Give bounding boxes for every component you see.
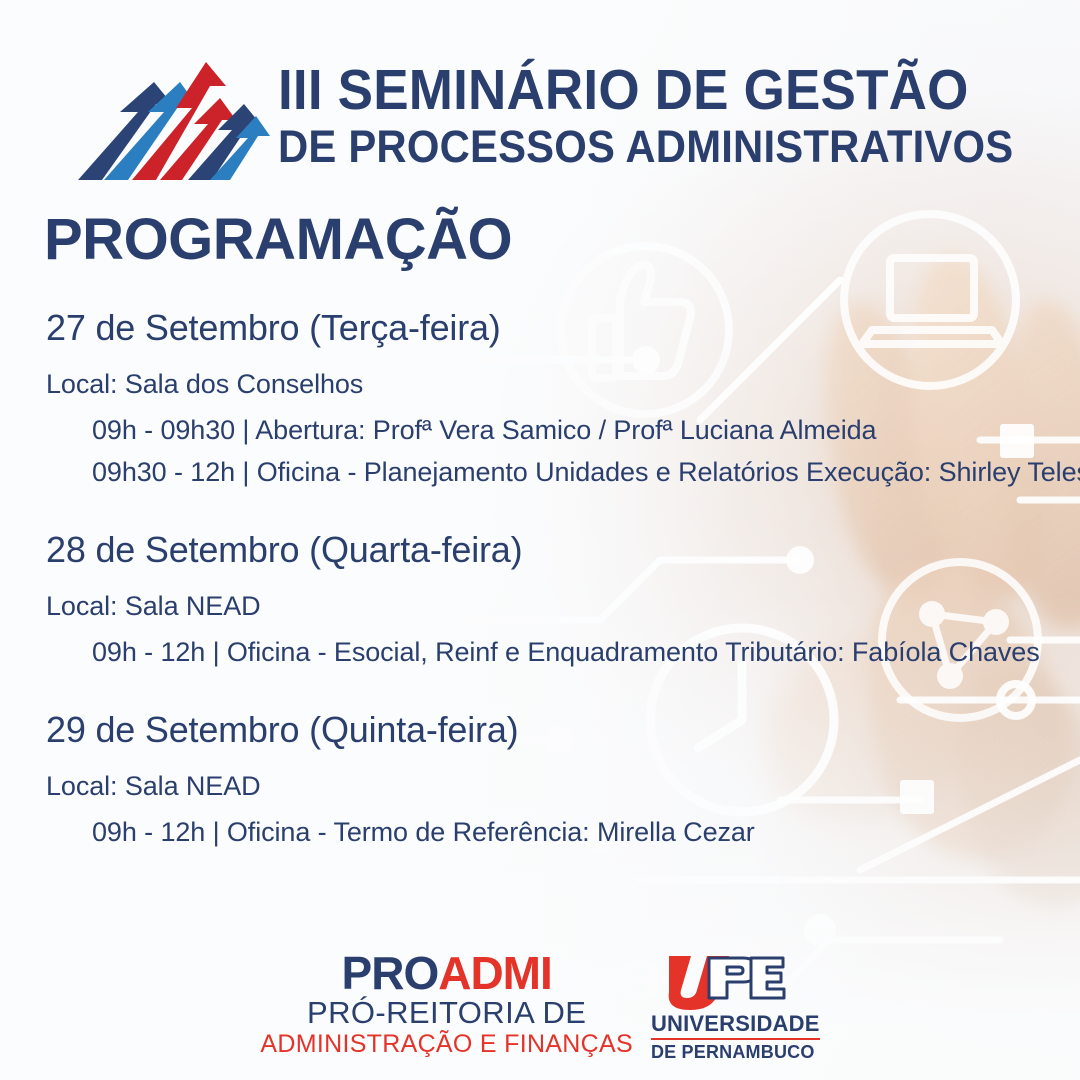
upe-line-1: UNIVERSIDADE — [651, 1010, 820, 1036]
day-location: Local: Sala NEAD — [46, 769, 1056, 803]
session-item: 09h - 12h | Oficina - Termo de Referênci… — [92, 811, 1056, 853]
session-item: 09h30 - 12h | Oficina - Planejamento Uni… — [92, 451, 1056, 493]
session-item: 09h - 09h30 | Abertura: Profª Vera Samic… — [92, 409, 1056, 451]
poster: III SEMINÁRIO DE GESTÃO DE PROCESSOS ADM… — [0, 0, 1080, 1080]
schedule-day: 28 de Setembro (Quarta-feira) Local: Sal… — [46, 527, 1056, 673]
upward-arrows-logo-icon — [76, 52, 272, 186]
upe-divider — [651, 1038, 820, 1040]
session-item: 09h - 12h | Oficina - Esocial, Reinf e E… — [92, 631, 1056, 673]
page-title: PROGRAMAÇÃO — [44, 206, 512, 273]
upe-line-2: DE PERNAMBUCO — [651, 1042, 820, 1062]
day-location: Local: Sala NEAD — [46, 589, 1056, 623]
upe-logo: UNIVERSIDADE DE PERNAMBUCO — [651, 946, 820, 1062]
proadmi-logo: PROADMI PRÓ-REITORIA DE ADMINISTRAÇÃO E … — [260, 946, 633, 1058]
day-location: Local: Sala dos Conselhos — [46, 367, 1056, 401]
schedule-list: 27 de Setembro (Terça-feira) Local: Sala… — [46, 305, 1056, 853]
schedule-day: 29 de Setembro (Quinta-feira) Local: Sal… — [46, 707, 1056, 853]
poster-footer: PROADMI PRÓ-REITORIA DE ADMINISTRAÇÃO E … — [0, 946, 1080, 1062]
event-title-line-2: DE PROCESSOS ADMINISTRATIVOS — [278, 122, 957, 172]
proadmi-subtitle: PRÓ-REITORIA DE — [260, 996, 633, 1030]
poster-header: III SEMINÁRIO DE GESTÃO DE PROCESSOS ADM… — [0, 0, 1080, 200]
schedule-day: 27 de Setembro (Terça-feira) Local: Sala… — [46, 305, 1056, 493]
proadmi-wordmark: PROADMI — [260, 950, 633, 996]
event-title-line-1: III SEMINÁRIO DE GESTÃO — [278, 60, 957, 120]
proadmi-department: ADMINISTRAÇÃO E FINANÇAS — [260, 1030, 633, 1058]
day-date: 27 de Setembro (Terça-feira) — [46, 305, 1056, 351]
day-date: 29 de Setembro (Quinta-feira) — [46, 707, 1056, 753]
proadmi-word-admi: ADMI — [438, 947, 552, 999]
event-title: III SEMINÁRIO DE GESTÃO DE PROCESSOS ADM… — [278, 60, 1008, 172]
day-date: 28 de Setembro (Quarta-feira) — [46, 527, 1056, 573]
proadmi-word-pro: PRO — [342, 947, 439, 999]
upe-monogram-icon — [651, 952, 786, 1010]
